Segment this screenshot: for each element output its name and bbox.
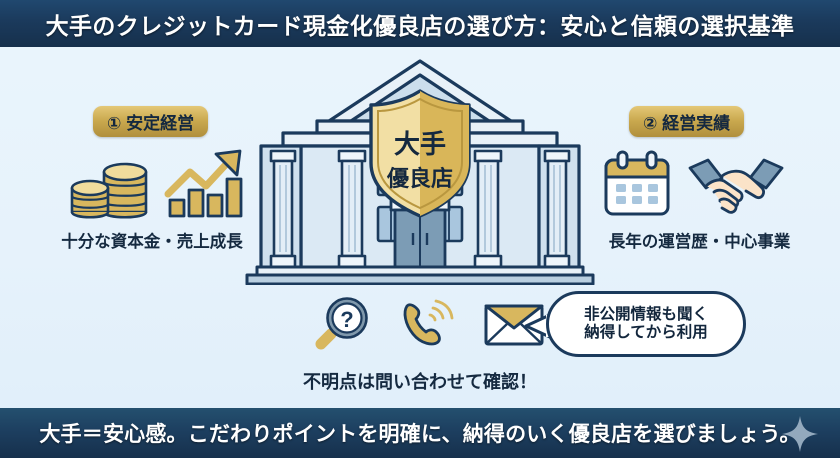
left-caption: 十分な資本金・売上成長 bbox=[46, 228, 258, 252]
footer-text: 大手＝安心感。こだわりポイントを明確に、納得のいく優良店を選びましょう。 bbox=[39, 418, 800, 448]
page-title: 大手のクレジットカード現金化優良店の選び方：安心と信頼の選択基準 bbox=[46, 7, 795, 41]
bubble-line-2: 納得してから利用 bbox=[584, 324, 708, 342]
badge-track-record: ② 経営実績 bbox=[629, 106, 744, 137]
bottom-caption: 不明点は問い合わせて確認！ bbox=[275, 368, 565, 394]
infographic-canvas: 大手のクレジットカード現金化優良店の選び方：安心と信頼の選択基準 bbox=[0, 0, 840, 458]
handshake-icon bbox=[688, 152, 784, 223]
svg-text:?: ? bbox=[340, 307, 353, 332]
right-caption: 長年の運営歴・中心事業 bbox=[592, 228, 807, 252]
phone-ringing-icon bbox=[397, 296, 457, 357]
coin-stack-icon bbox=[68, 150, 150, 227]
bank-building-icon: 大手 優良店 bbox=[243, 55, 597, 285]
growth-bar-chart-icon bbox=[164, 148, 248, 227]
footer-bar: 大手＝安心感。こだわりポイントを明確に、納得のいく優良店を選びましょう。 bbox=[0, 408, 840, 458]
calendar-icon bbox=[600, 150, 674, 225]
magnifier-question-icon: ? bbox=[315, 296, 371, 357]
shield-line-1: 大手 bbox=[394, 129, 446, 159]
left-icon-group bbox=[68, 148, 248, 227]
speech-bubble: 非公開情報も聞く 納得してから利用 bbox=[546, 291, 746, 357]
badge-stable-management: ① 安定経営 bbox=[93, 106, 208, 137]
shield-line-2: 優良店 bbox=[386, 166, 453, 191]
contact-icon-group: ? bbox=[315, 296, 545, 357]
header-bar: 大手のクレジットカード現金化優良店の選び方：安心と信頼の選択基準 bbox=[0, 0, 840, 47]
right-icon-group bbox=[600, 150, 784, 225]
bubble-line-1: 非公開情報も聞く bbox=[584, 306, 708, 324]
